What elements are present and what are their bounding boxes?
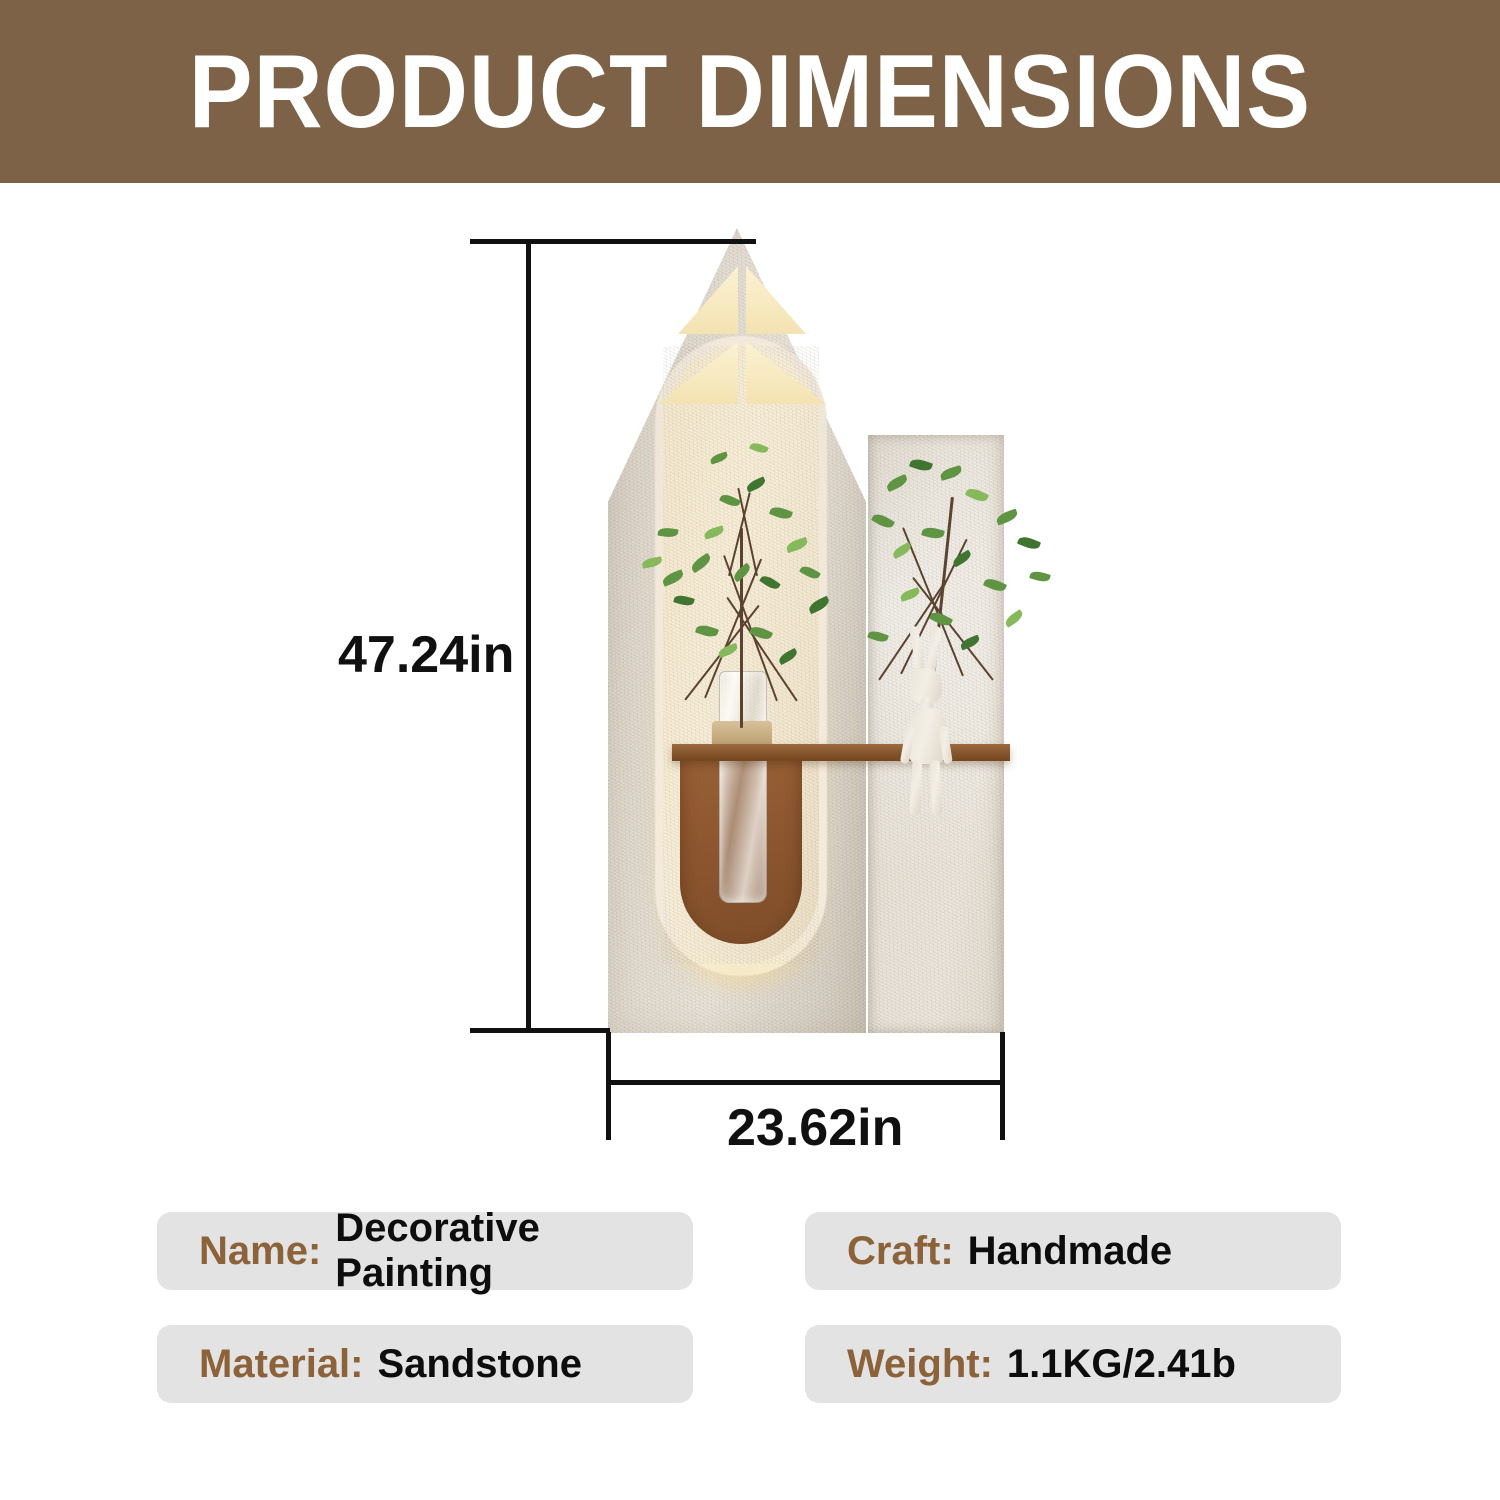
- rabbit-leg-left: [910, 760, 923, 816]
- window-pane-bottom-right: [746, 342, 826, 404]
- info-value-material: Sandstone: [378, 1342, 582, 1387]
- page-title: PRODUCT DIMENSIONS: [189, 40, 1311, 144]
- height-dimension-bottom-tick: [470, 1028, 610, 1033]
- info-box-name: Name: Decorative Painting: [157, 1212, 693, 1290]
- info-box-material: Material: Sandstone: [157, 1325, 693, 1403]
- width-dimension-label: 23.62in: [727, 1098, 903, 1158]
- width-dimension-line: [606, 1080, 1005, 1085]
- info-label-name: Name:: [199, 1229, 321, 1274]
- window-pane-top-right: [746, 266, 806, 334]
- info-label-weight: Weight:: [847, 1342, 993, 1387]
- width-dimension-right-tick: [1000, 1032, 1005, 1140]
- product-dimension-diagram: 47.24in 23.62in: [0, 183, 1500, 1193]
- info-box-craft: Craft: Handmade: [805, 1212, 1341, 1290]
- width-dimension-left-tick: [606, 1032, 611, 1140]
- info-label-material: Material:: [199, 1342, 364, 1387]
- info-box-weight: Weight: 1.1KG/2.41b: [805, 1325, 1341, 1403]
- window-pane-bottom-left: [658, 342, 738, 404]
- info-value-weight: 1.1KG/2.41b: [1007, 1342, 1236, 1387]
- info-value-name: Decorative Painting: [335, 1206, 693, 1296]
- info-label-craft: Craft:: [847, 1229, 954, 1274]
- rabbit-figurine: [893, 626, 959, 818]
- height-dimension-line: [526, 239, 531, 1032]
- glass-tube-vase: [719, 671, 767, 903]
- wooden-shelf: [672, 744, 1010, 761]
- height-dimension-label: 47.24in: [338, 625, 514, 685]
- window-pane-top-left: [678, 266, 738, 334]
- product-illustration: [600, 228, 1010, 1038]
- header-banner: PRODUCT DIMENSIONS: [0, 0, 1500, 183]
- rabbit-leg-right: [930, 760, 943, 816]
- triangular-window: [662, 256, 822, 406]
- info-value-craft: Handmade: [968, 1229, 1173, 1274]
- height-dimension-top-tick: [470, 239, 756, 244]
